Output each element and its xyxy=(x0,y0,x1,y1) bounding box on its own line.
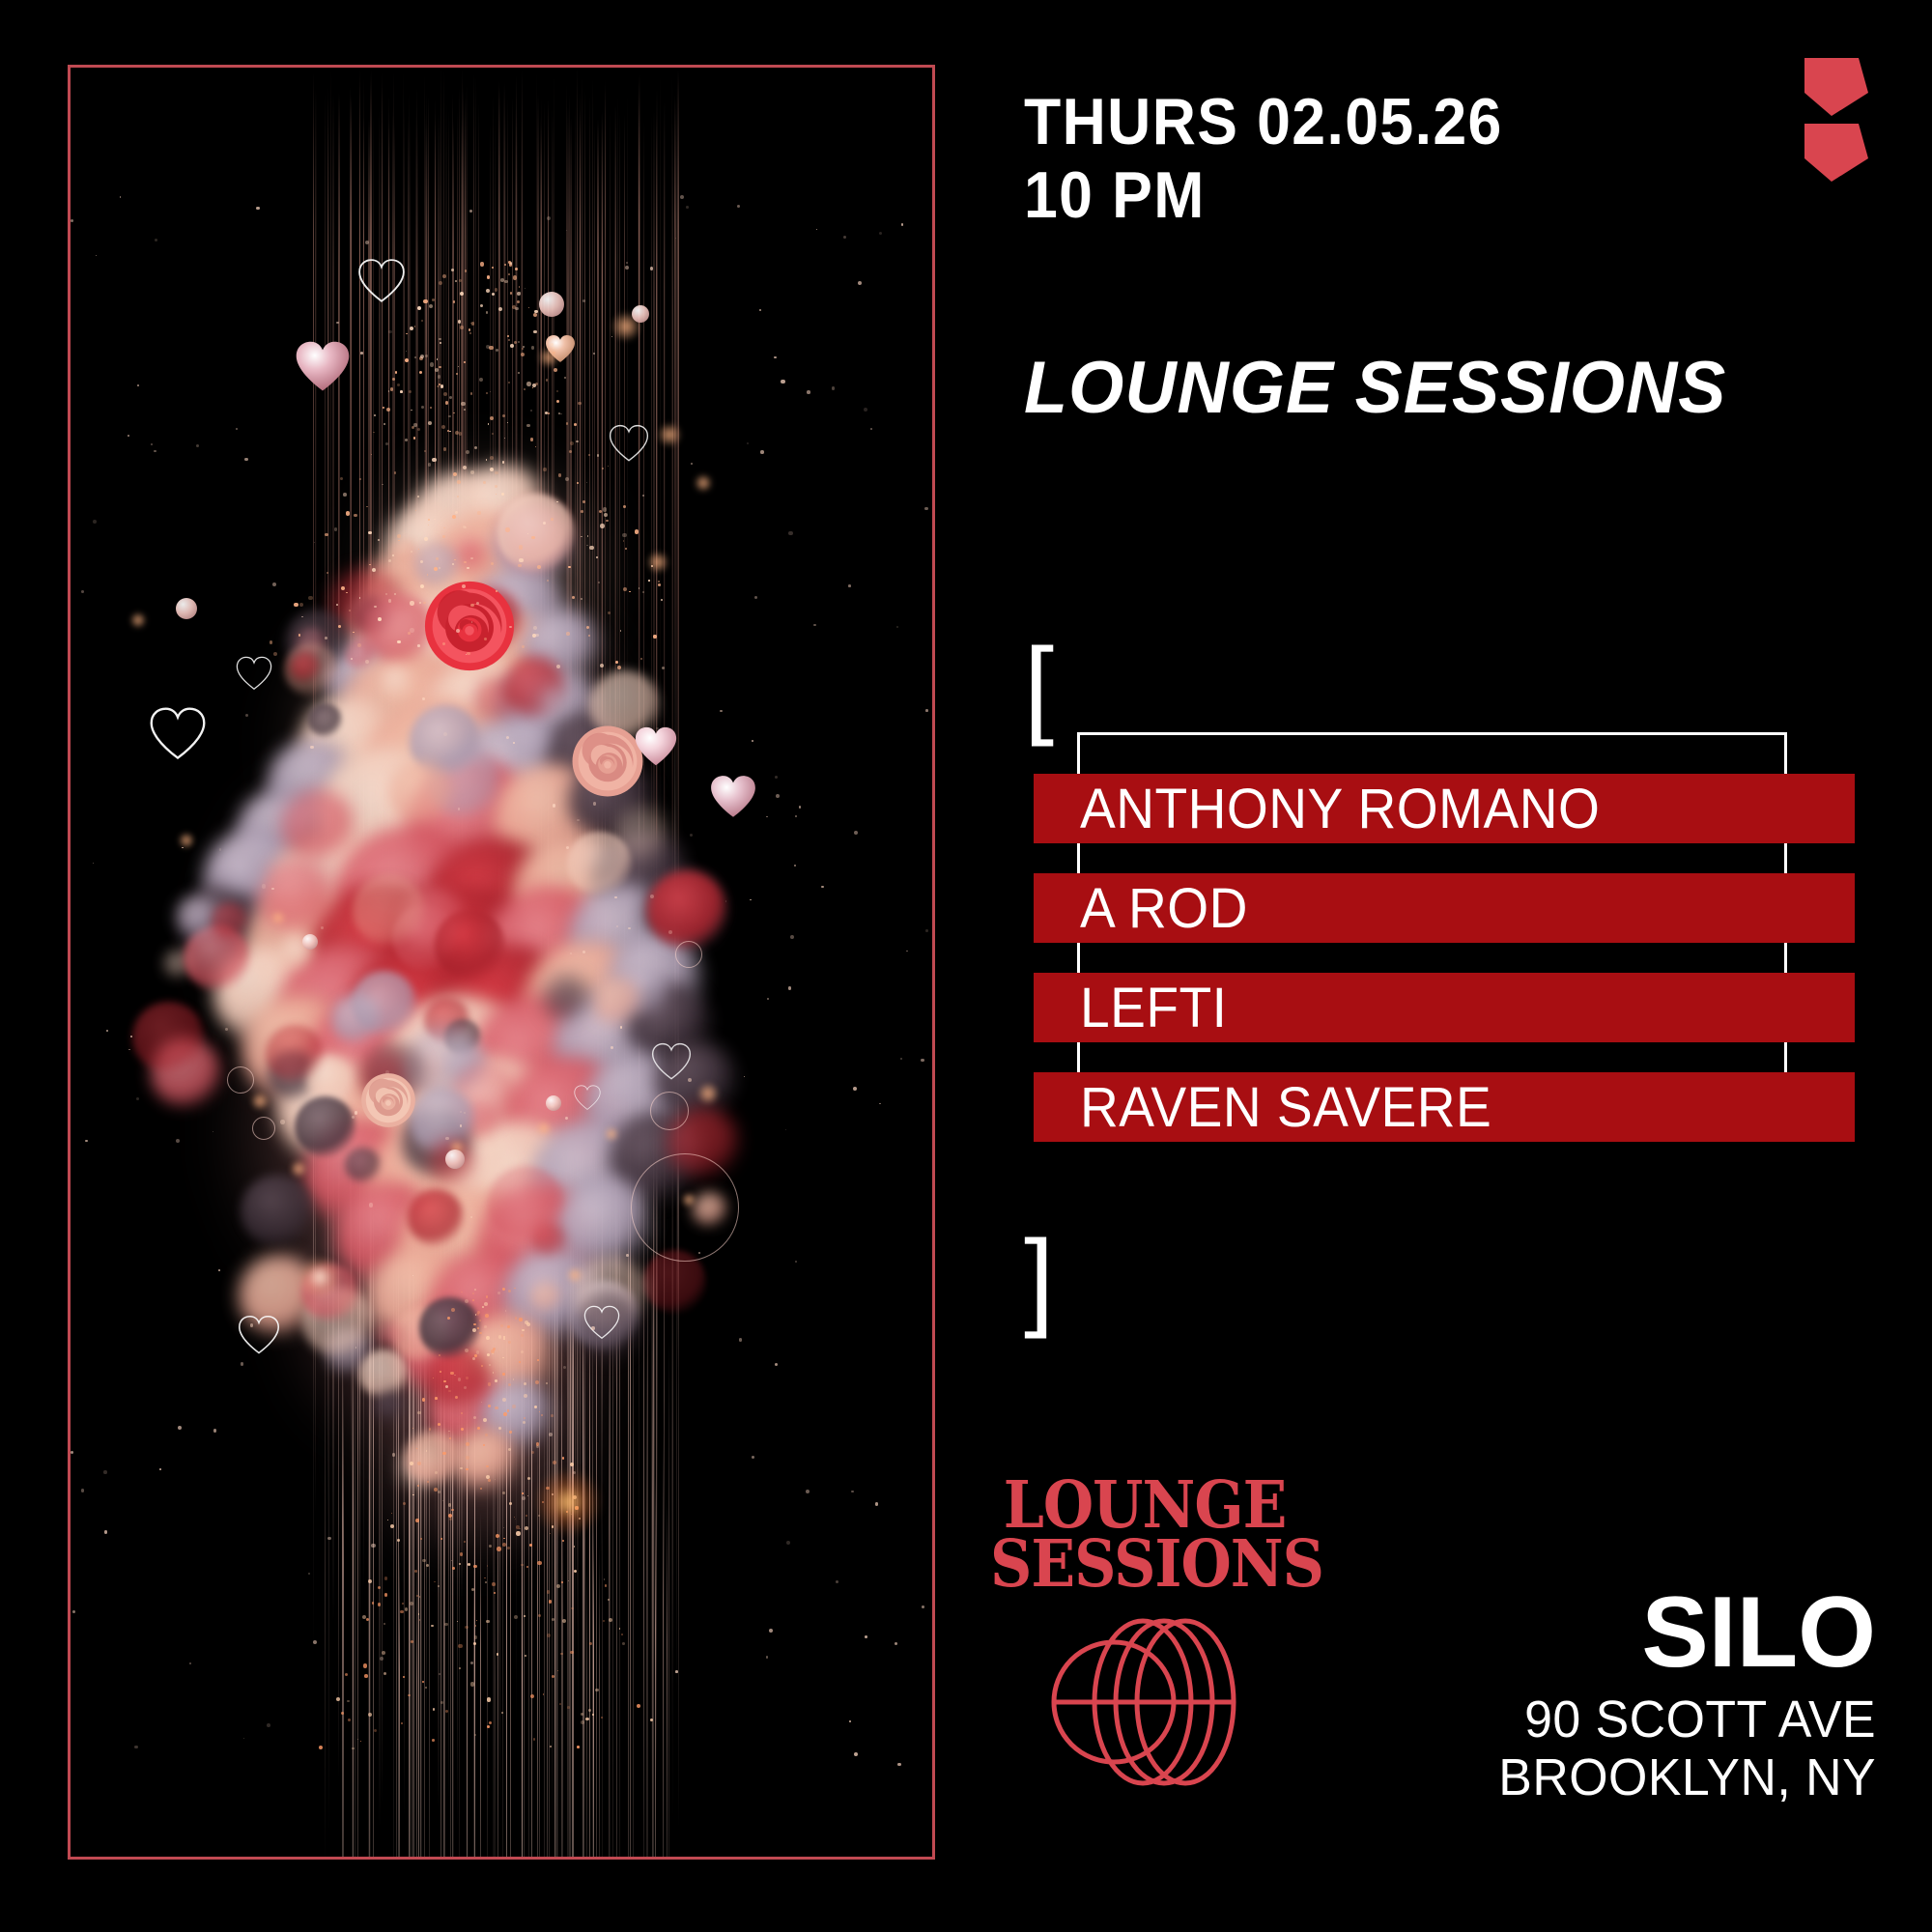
logo-wordmark: LOUNGE SESSIONS xyxy=(990,1473,1299,1591)
venue-address: 90 SCOTT AVE xyxy=(1498,1690,1876,1748)
lounge-sessions-logo: LOUNGE SESSIONS xyxy=(990,1473,1299,1788)
heart-solid-icon xyxy=(708,773,758,823)
list-item[interactable]: LEFTI xyxy=(1034,973,1855,1042)
event-date: THURS 02.05.26 xyxy=(1024,85,1503,158)
artist-name: A ROD xyxy=(1080,876,1248,941)
heart-outline-icon xyxy=(650,1041,693,1084)
heart-outline-icon xyxy=(573,1084,602,1113)
heart-outline-icon xyxy=(356,257,407,307)
list-item[interactable]: A ROD xyxy=(1034,873,1855,943)
bracket-open: [ xyxy=(1024,633,1054,741)
poster-info-column: THURS 02.05.26 10 PM LOUNGE SESSIONS [ ]… xyxy=(1005,0,1932,1932)
venue-info: SILO 90 SCOTT AVE BROOKLYN, NY xyxy=(1483,1582,1876,1807)
venue-city: BROOKLYN, NY xyxy=(1498,1748,1876,1806)
venue-name: SILO xyxy=(1483,1582,1876,1683)
heart-outline-icon xyxy=(235,655,273,694)
heart-outline-icon xyxy=(608,423,650,466)
double-pentagon-icon xyxy=(1799,54,1888,185)
list-item[interactable]: ANTHONY ROMANO xyxy=(1034,774,1855,843)
artwork-panel xyxy=(68,65,935,1860)
event-date-time: THURS 02.05.26 10 PM xyxy=(1024,85,1503,232)
artist-name: ANTHONY ROMANO xyxy=(1080,777,1600,841)
bracket-close: ] xyxy=(1024,1225,1054,1333)
event-time: 10 PM xyxy=(1024,158,1503,232)
overlapping-circles-emblem xyxy=(990,1616,1299,1788)
heart-outline-icon xyxy=(237,1314,281,1358)
artist-name: LEFTI xyxy=(1080,976,1227,1040)
logo-line-2: SESSIONS xyxy=(990,1532,1299,1599)
heart-solid-icon xyxy=(293,338,353,398)
page-title: LOUNGE SESSIONS xyxy=(1024,346,1726,430)
heart-solid-icon xyxy=(633,724,679,771)
list-item[interactable]: RAVEN SAVERE xyxy=(1034,1072,1855,1142)
artist-name: RAVEN SAVERE xyxy=(1080,1075,1492,1140)
artist-lineup-list: ANTHONY ROMANO A ROD LEFTI RAVEN SAVERE xyxy=(1034,774,1855,1142)
heart-outline-icon xyxy=(582,1304,621,1343)
artwork-canvas xyxy=(71,68,932,1857)
heart-outline-icon xyxy=(148,705,208,765)
